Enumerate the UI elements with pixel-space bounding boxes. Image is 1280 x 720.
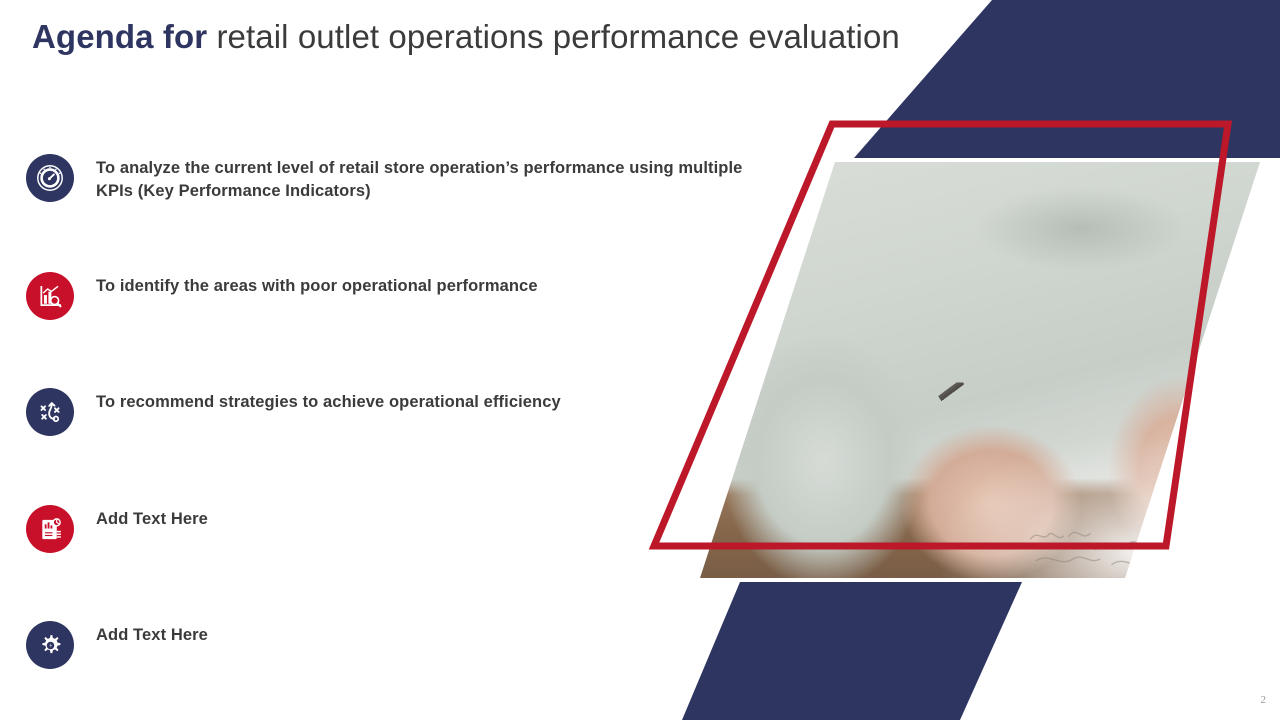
agenda-item-4[interactable]: Add Text Here xyxy=(26,505,766,553)
page-title: Agenda for retail outlet operations perf… xyxy=(32,15,922,59)
agenda-item-1-label: To analyze the current level of retail s… xyxy=(96,154,766,204)
gear-cog-icon xyxy=(37,632,64,659)
agenda-item-1-badge xyxy=(26,154,74,202)
agenda-item-2[interactable]: To identify the areas with poor operatio… xyxy=(26,272,766,320)
agenda-item-3-label: To recommend strategies to achieve opera… xyxy=(96,388,561,414)
agenda-item-2-label: To identify the areas with poor operatio… xyxy=(96,272,538,298)
photo-person-writing-in-notebook xyxy=(700,162,1260,578)
strategy-playbook-icon xyxy=(37,399,64,426)
agenda-item-1[interactable]: To analyze the current level of retail s… xyxy=(26,154,766,204)
speedometer-gauge-icon xyxy=(36,164,64,192)
agenda-item-5[interactable]: Add Text Here xyxy=(26,621,766,669)
agenda-item-2-badge xyxy=(26,272,74,320)
agenda-item-5-label: Add Text Here xyxy=(96,621,208,647)
agenda-item-4-label: Add Text Here xyxy=(96,505,208,531)
agenda-item-3-badge xyxy=(26,388,74,436)
agenda-item-3[interactable]: To recommend strategies to achieve opera… xyxy=(26,388,766,436)
handwriting-scribbles-icon xyxy=(1014,520,1204,574)
agenda-item-4-badge xyxy=(26,505,74,553)
page-number: 2 xyxy=(1261,694,1267,706)
page-title-rest: retail outlet operations performance eva… xyxy=(207,18,900,55)
bar-chart-magnifier-icon xyxy=(37,283,64,310)
chart-report-document-icon xyxy=(37,516,64,543)
page-title-accent: Agenda for xyxy=(32,18,207,55)
agenda-item-5-badge xyxy=(26,621,74,669)
